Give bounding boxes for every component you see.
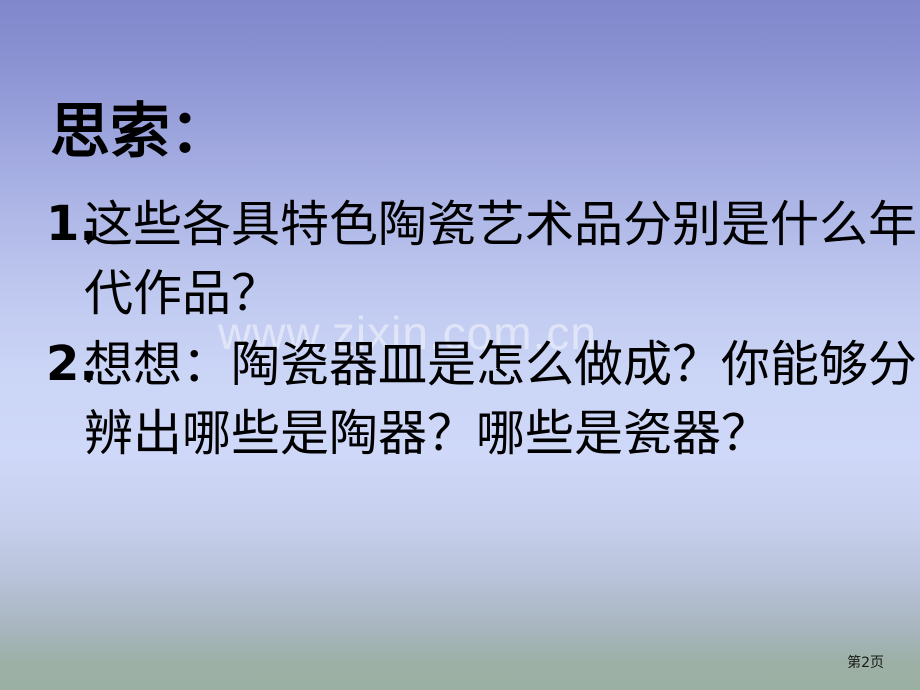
list-item-text: 这些各具特色陶瓷艺术品分别是什么年代作品？ [84,196,917,322]
list-item-marker: 2. [46,330,98,399]
page-number: 第2页 [847,652,884,672]
list-item: 2. 想想：陶瓷器皿是怎么做成？你能够分辨出哪些是陶器？哪些是瓷器？ [46,330,920,468]
slide-canvas: www.zixin.com.cn 思索： 1. 这些各具特色陶瓷艺术品分别是什么… [0,0,920,690]
list-item-text: 想想：陶瓷器皿是怎么做成？你能够分辨出哪些是陶器？哪些是瓷器？ [84,336,917,462]
page-title: 思索： [50,96,230,168]
list-item-marker: 1. [46,190,98,259]
list-item: 1. 这些各具特色陶瓷艺术品分别是什么年代作品？ [46,190,920,328]
